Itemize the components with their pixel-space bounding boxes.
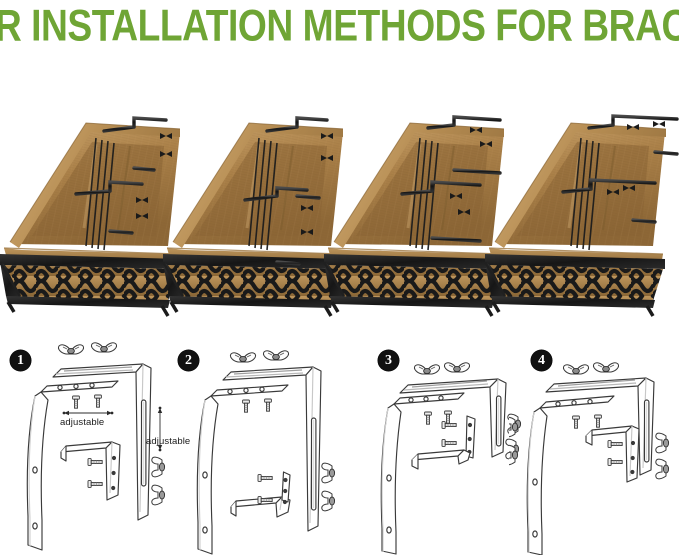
bolt-icon: [265, 399, 272, 411]
planter-box-photo-row: [0, 96, 679, 318]
bolt-icon: [595, 415, 602, 427]
adjustable-label-vertical: adjustable: [146, 436, 190, 447]
page-title: FOUR INSTALLATION METHODS FOR BRACKET: [0, 4, 679, 49]
bolt-icon: [95, 395, 102, 407]
wing-nut-icon: [230, 353, 255, 362]
method-badge-1: 1: [10, 350, 31, 371]
wing-nut-icon: [322, 491, 335, 511]
product-infographic: FOUR INSTALLATION METHODS FOR BRACKET: [0, 0, 679, 555]
adjustable-dimension-horizontal: [63, 411, 114, 415]
bolt-icon: [608, 459, 622, 466]
wing-nut-icon: [152, 457, 165, 477]
bolt-icon: [442, 440, 456, 447]
bolt-icon: [573, 416, 580, 428]
installation-method-diagrams: adjustable: [0, 330, 679, 555]
wing-nut-icon: [414, 365, 439, 374]
wing-nut-icon: [152, 485, 165, 505]
bolt-icon: [88, 459, 102, 466]
bolt-icon: [243, 400, 250, 412]
wing-nut-icon: [91, 343, 116, 352]
bolt-icon: [88, 481, 102, 488]
wing-nut-icon: [563, 365, 588, 374]
planter-box-photo-1: [0, 96, 180, 318]
planter-box-photo-3: [316, 96, 504, 318]
bolt-icon: [73, 396, 80, 408]
method-badge-4: 4: [531, 350, 552, 371]
adjustable-label-horizontal: adjustable: [60, 417, 104, 428]
method-badge-2: 2: [178, 350, 199, 371]
wing-nut-icon: [656, 433, 669, 453]
wing-nut-icon: [593, 363, 618, 372]
wing-nut-icon: [58, 345, 83, 354]
title-band: FOUR INSTALLATION METHODS FOR BRACKET: [0, 0, 679, 52]
bolt-icon: [425, 412, 432, 424]
bolt-icon: [608, 441, 622, 448]
bolt-icon: [445, 411, 452, 423]
overflow-wing-nuts-method-3: [509, 330, 529, 555]
wing-nut-icon: [263, 351, 288, 360]
planter-box-photo-4: [477, 96, 679, 318]
method-badge-3: 3: [378, 350, 399, 371]
wing-nut-icon: [656, 459, 669, 479]
bolt-icon: [258, 475, 272, 482]
wing-nut-icon: [444, 363, 469, 372]
wing-nut-icon: [322, 463, 335, 483]
method-diagram-2: [178, 330, 353, 555]
planter-box-photo-2: [155, 96, 343, 318]
